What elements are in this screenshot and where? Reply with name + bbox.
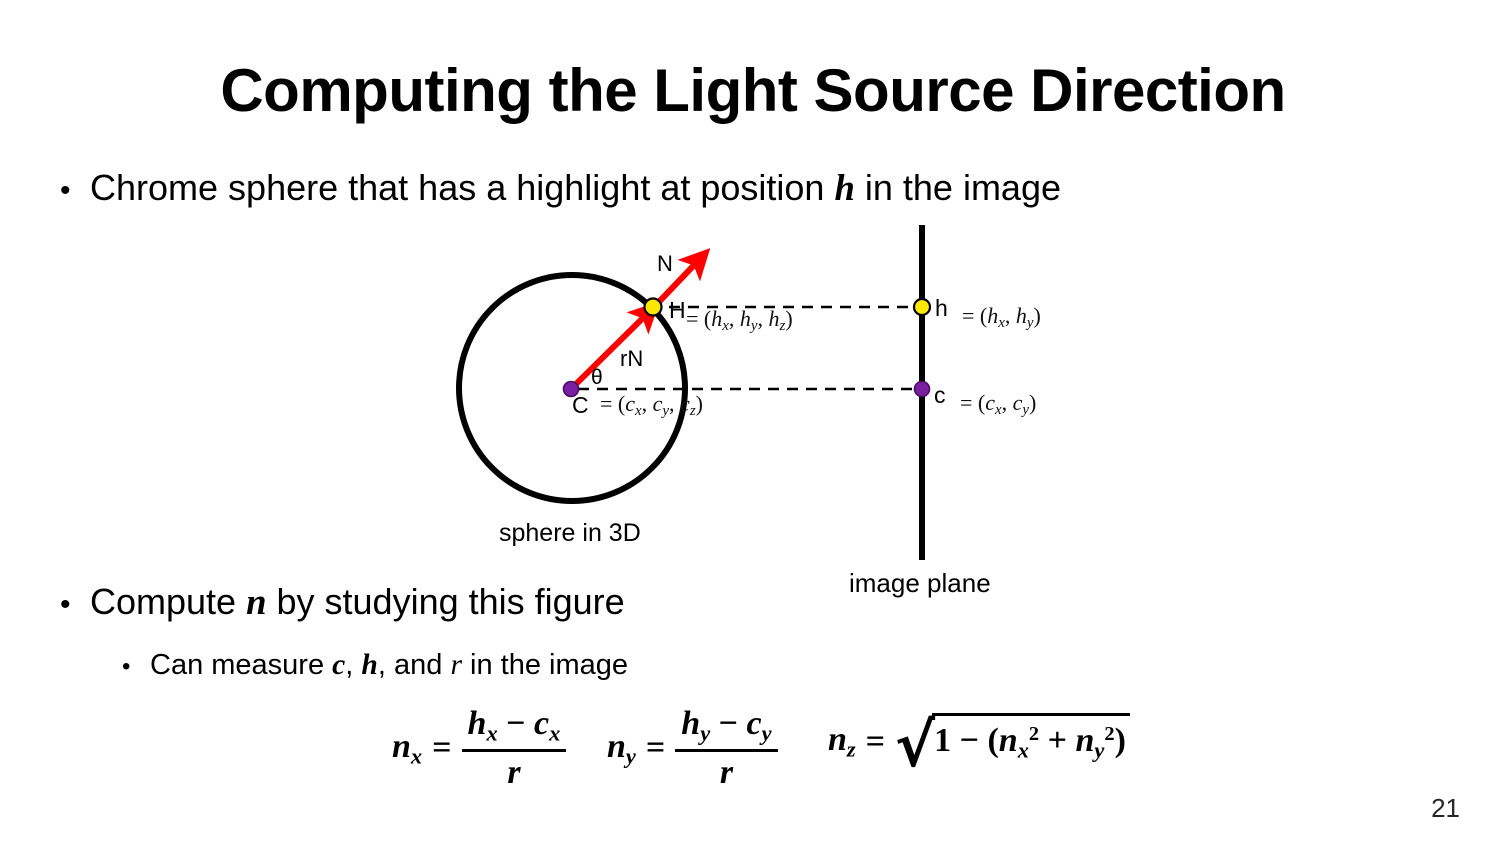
equation-nx-lhs: nx [392, 728, 422, 770]
equation-ny-numerator: hy − cy [675, 705, 777, 749]
bullet-3-math-c: c [332, 649, 345, 681]
slide-canvas: Computing the Light Source Direction • C… [0, 0, 1506, 846]
sphere-point-C-coords: = (cx, cy, cz) [600, 391, 703, 420]
bullet-item-3: • Can measure c, h, and r in the image [110, 647, 628, 685]
equation-ny: ny = hy − cy r [607, 705, 778, 792]
bullet-3-text-before: Can measure [150, 649, 332, 681]
equation-ny-equals: = [636, 729, 675, 767]
equation-nx-equals: = [422, 729, 461, 767]
equation-ny-fraction: hy − cy r [675, 705, 777, 792]
bullet-3-text-after: in the image [462, 649, 628, 681]
normal-arrow-label: N [657, 251, 673, 277]
equation-nz-radical: √ 1 − (nx2 + ny2) [895, 712, 1130, 772]
sphere-caption: sphere in 3D [499, 519, 641, 548]
image-point-c-label: c [934, 382, 946, 409]
bullet-3-sep-1: , [345, 649, 361, 681]
equation-ny-lhs: ny [607, 728, 636, 770]
bullet-1-text-after: in the image [855, 167, 1061, 208]
equation-nz-radicand: 1 − (nx2 + ny2) [932, 713, 1130, 773]
equation-nx-numerator: hx − cx [462, 705, 567, 749]
page-title: Computing the Light Source Direction [0, 56, 1506, 126]
image-point-c-coords: = (cx, cy) [960, 390, 1036, 419]
bullet-3-math-r: r [450, 649, 462, 681]
image-point-h-label: h [935, 295, 948, 322]
image-plane-caption: image plane [849, 568, 991, 599]
equation-nz-equals: = [856, 723, 895, 761]
bullet-2-text-before: Compute [90, 581, 246, 622]
equation-ny-denominator: r [714, 752, 739, 792]
bullet-text: Compute n by studying this figure [90, 580, 625, 624]
equation-nz: nz = √ 1 − (nx2 + ny2) [828, 712, 1130, 772]
bullet-3-sep-2: , and [378, 649, 451, 681]
sphere-point-H-label: H [669, 297, 686, 324]
bullet-3-math-h: h [361, 649, 377, 681]
sphere-point-H-coords: = (hx, hy, hz) [686, 306, 793, 335]
equation-nx-denominator: r [501, 752, 526, 792]
bullet-marker: • [50, 583, 90, 627]
radius-arrow-label: rN [620, 346, 643, 372]
equation-nx-fraction: hx − cx r [462, 705, 567, 792]
bullet-text: Chrome sphere that has a highlight at po… [90, 166, 1061, 210]
highlight-point-H [645, 299, 662, 316]
bullet-2-math-n: n [246, 581, 266, 622]
bullet-1-text-before: Chrome sphere that has a highlight at po… [90, 167, 834, 208]
image-point-c [915, 382, 930, 397]
bullet-item-2: • Compute n by studying this figure [50, 580, 625, 627]
bullet-1-math-h: h [834, 167, 854, 208]
bullet-text: Can measure c, h, and r in the image [150, 647, 628, 683]
sphere-circle [459, 275, 685, 501]
bullet-2-text-after: by studying this figure [267, 581, 625, 622]
bullet-marker: • [50, 169, 90, 213]
sphere-point-C-label: C [572, 392, 589, 419]
bullet-marker: • [110, 649, 150, 685]
equation-nx: nx = hx − cx r [392, 705, 566, 792]
image-point-h [914, 299, 930, 315]
equation-nz-lhs: nz [828, 721, 856, 763]
bullet-item-1: • Chrome sphere that has a highlight at … [50, 166, 1061, 213]
image-point-h-coords: = (hx, hy) [962, 303, 1041, 332]
page-number: 21 [1431, 793, 1460, 824]
radical-sign: √ [895, 716, 935, 776]
theta-label: θ [591, 366, 603, 390]
